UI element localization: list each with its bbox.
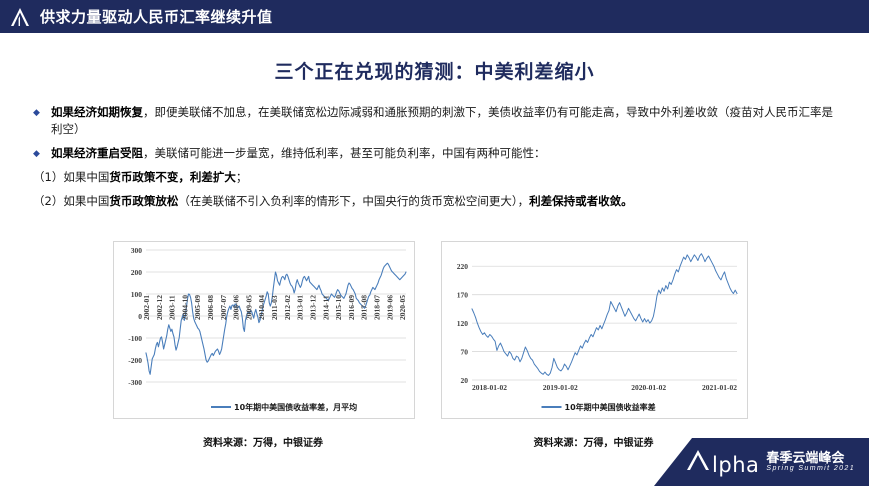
page-title: 三个正在兑现的猜测：中美利差缩小 <box>0 57 869 84</box>
x-axis-tick: 2013-01 <box>296 295 305 320</box>
alpha-wordmark: lpha <box>685 448 759 477</box>
x-axis-tick: 2002-01 <box>142 295 151 320</box>
chart-left-container: 3002001000-100-200-3002002-012002-122003… <box>113 241 415 419</box>
y-axis-tick: 300 <box>131 246 143 255</box>
x-axis-tick: 2009-05 <box>244 295 253 320</box>
summit-name-en: Spring Summit 2021 <box>766 465 855 473</box>
bullet-rest-1: ，即便美联储不加息，在美联储宽松边际减弱和通胀预期的刺激下，美债收益率仍有可能走… <box>51 105 833 136</box>
bullet-lead-1: 如果经济如期恢复 <box>51 105 143 119</box>
numbered-prefix-1: （1）如果中国 <box>33 170 109 184</box>
x-axis-tick: 2019-06 <box>385 295 394 320</box>
y-axis-tick: 170 <box>457 291 469 300</box>
numbered-bold-1: 货币政策不变，利差扩大 <box>109 170 236 184</box>
numbered-bold2-2: 利差保持或者收敛。 <box>529 194 633 208</box>
x-axis-tick: 2011-03 <box>270 295 279 320</box>
diamond-bullet-icon: ◆ <box>31 104 51 121</box>
chart-left-svg: 3002001000-100-200-3002002-012002-122003… <box>114 242 412 416</box>
numbered-suffix-1: ； <box>236 170 248 184</box>
x-axis-tick: 2020-01-02 <box>631 383 666 392</box>
numbered-bold-2: 货币政策放松 <box>109 194 178 208</box>
numbered-item-1: （1）如果中国货币政策不变，利差扩大； <box>31 169 843 186</box>
summit-name-cn: 春季云端峰会 <box>766 451 855 465</box>
header-title: 供求力量驱动人民币汇率继续升值 <box>40 6 273 27</box>
y-axis-tick: -100 <box>128 334 142 343</box>
y-axis-tick: -300 <box>128 378 142 387</box>
x-axis-tick: 2013-12 <box>309 295 318 320</box>
source-note-left: 资料来源：万得，中银证券 <box>113 434 413 449</box>
x-axis-tick: 2005-09 <box>193 295 202 320</box>
x-axis-tick: 2021-01-02 <box>702 383 737 392</box>
bullet-item-1: ◆ 如果经济如期恢复，即便美联储不加息，在美联储宽松边际减弱和通胀预期的刺激下，… <box>31 104 843 138</box>
y-axis-tick: 200 <box>131 268 143 277</box>
chart-right-container: 22017012070202018-01-022019-01-022020-01… <box>441 241 748 419</box>
chart-legend-label: 10年期中美国债收益率差 <box>565 402 656 412</box>
x-axis-tick: 2006-08 <box>206 295 215 320</box>
chart-legend-label: 10年期中美国债收益率差，月平均 <box>234 402 357 412</box>
slide-header-bar: 供求力量驱动人民币汇率继续升值 <box>0 0 869 33</box>
x-axis-tick: 2015-10 <box>334 295 343 320</box>
x-axis-tick: 2004-10 <box>180 295 189 320</box>
bullet-item-2: ◆ 如果经济重启受阻，美联储可能进一步量宽，维持低利率，甚至可能负利率，中国有两… <box>31 145 843 162</box>
x-axis-tick: 2018-01-02 <box>472 383 507 392</box>
y-axis-tick: 120 <box>457 319 469 328</box>
x-axis-tick: 2020-05 <box>398 295 407 320</box>
x-axis-tick: 2016-09 <box>347 295 356 320</box>
numbered-mid-2: （在美联储不引入负利率的情形下，中国央行的货币宽松空间更大）， <box>178 194 529 208</box>
x-axis-tick: 2008-06 <box>232 295 241 320</box>
bullet-text-2: 如果经济重启受阻，美联储可能进一步量宽，维持低利率，甚至可能负利率，中国有两种可… <box>51 145 546 162</box>
y-axis-tick: 100 <box>131 290 143 299</box>
diamond-bullet-icon: ◆ <box>31 145 51 162</box>
x-axis-tick: 2018-07 <box>373 295 382 320</box>
x-axis-tick: 2003-11 <box>168 295 177 320</box>
y-axis-tick: 20 <box>461 376 469 385</box>
series-line <box>472 254 737 376</box>
x-axis-tick: 2012-02 <box>283 295 292 320</box>
chart-right-svg: 22017012070202018-01-022019-01-022020-01… <box>442 242 745 416</box>
y-axis-tick: -200 <box>128 356 142 365</box>
y-axis-tick: 70 <box>461 348 469 357</box>
numbered-item-2: （2）如果中国货币政策放松（在美联储不引入负利率的情形下，中国央行的货币宽松空间… <box>31 193 843 210</box>
x-axis-tick: 2010-04 <box>257 295 266 320</box>
numbered-prefix-2: （2）如果中国 <box>33 194 109 208</box>
bullet-text-1: 如果经济如期恢复，即便美联储不加息，在美联储宽松边际减弱和通胀预期的刺激下，美债… <box>51 104 843 138</box>
bullet-lead-2: 如果经济重启受阻 <box>51 146 143 160</box>
x-axis-tick: 2002-12 <box>155 295 164 320</box>
alpha-text: lpha <box>712 453 759 477</box>
triangle-a-icon <box>0 0 40 33</box>
x-axis-tick: 2014-11 <box>321 295 330 320</box>
content-body: ◆ 如果经济如期恢复，即便美联储不加息，在美联储宽松边际减弱和通胀预期的刺激下，… <box>31 104 843 217</box>
x-axis-tick: 2019-01-02 <box>543 383 578 392</box>
triangle-a-icon <box>685 448 711 472</box>
x-axis-tick: 2007-07 <box>219 295 228 320</box>
summit-name-block: 春季云端峰会 Spring Summit 2021 <box>766 451 855 473</box>
x-axis-tick: 2017-08 <box>360 295 369 320</box>
y-axis-tick: 220 <box>457 262 469 271</box>
bullet-rest-2: ，美联储可能进一步量宽，维持低利率，甚至可能负利率，中国有两种可能性： <box>143 146 546 160</box>
